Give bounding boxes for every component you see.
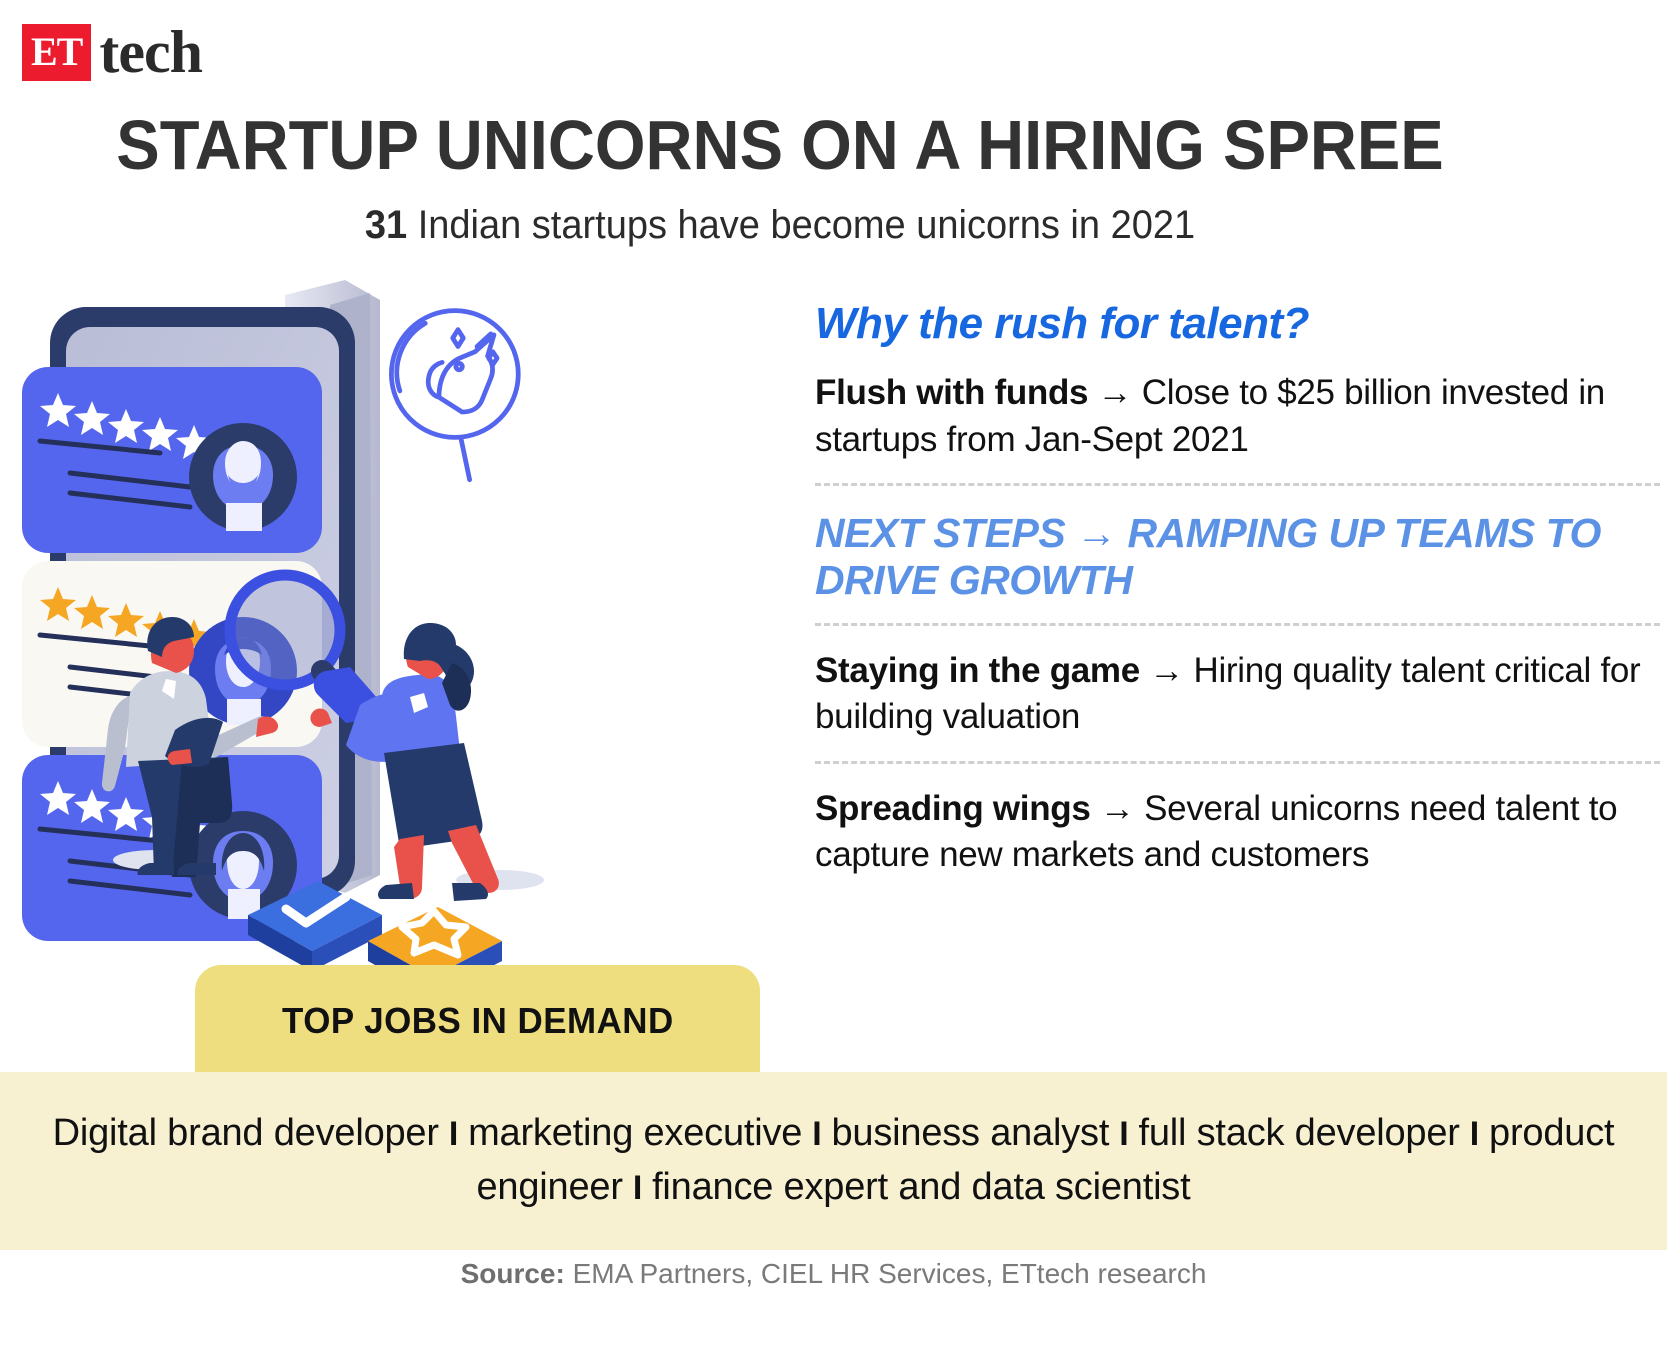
rush-for-talent-heading: Why the rush for talent? — [815, 300, 1660, 348]
top-jobs-tab-label: TOP JOBS IN DEMAND — [282, 1000, 674, 1042]
page-subtitle: 31 Indian startups have become unicorns … — [39, 203, 1521, 247]
ettech-logo[interactable]: ET tech — [22, 22, 202, 82]
phone-and-people-illustration — [0, 275, 820, 995]
job-item: business analyst — [831, 1112, 1109, 1154]
top-jobs-list: Digital brand developerImarketing execut… — [34, 1107, 1634, 1215]
divider-2 — [815, 623, 1660, 626]
job-item: finance expert and data scientist — [652, 1166, 1190, 1208]
fact-lead: Spreading wings — [815, 789, 1091, 828]
hero-illustration — [0, 275, 820, 995]
top-jobs-panel: Digital brand developerImarketing execut… — [0, 1072, 1667, 1250]
divider-3 — [815, 761, 1660, 764]
job-separator: I — [439, 1115, 468, 1153]
fact-lead: Flush with funds — [815, 373, 1088, 412]
job-item: full stack developer — [1138, 1112, 1459, 1154]
fact-arrow: → — [1140, 651, 1194, 690]
job-item: Digital brand developer — [53, 1112, 439, 1154]
page-title: STARTUP UNICORNS ON A HIRING SPREE — [55, 110, 1506, 181]
next-steps-heading: NEXT STEPS → RAMPING UP TEAMS TO DRIVE G… — [815, 510, 1660, 603]
fact-lead: Staying in the game — [815, 651, 1140, 690]
job-separator: I — [802, 1115, 831, 1153]
fact-item-funds: Flush with funds → Close to $25 billion … — [815, 370, 1660, 462]
divider-1 — [815, 483, 1660, 486]
et-logo-mark: ET — [22, 24, 91, 81]
source-label: Source: — [461, 1258, 565, 1289]
subtitle-count: 31 — [365, 203, 407, 247]
job-item: marketing executive — [468, 1112, 802, 1154]
source-line: Source: EMA Partners, CIEL HR Services, … — [0, 1258, 1667, 1290]
tech-wordmark: tech — [99, 22, 202, 82]
right-content-panel: Why the rush for talent? Flush with fund… — [815, 300, 1660, 878]
subtitle-text: Indian startups have become unicorns in … — [407, 203, 1195, 247]
fact-item-staying: Staying in the game → Hiring quality tal… — [815, 648, 1660, 740]
fact-arrow: → — [1091, 789, 1145, 828]
job-separator: I — [1109, 1115, 1138, 1153]
top-jobs-tab: TOP JOBS IN DEMAND — [195, 965, 760, 1077]
source-text: EMA Partners, CIEL HR Services, ETtech r… — [565, 1258, 1207, 1289]
profile-card-1 — [22, 367, 322, 553]
job-separator: I — [1460, 1115, 1489, 1153]
title-block: STARTUP UNICORNS ON A HIRING SPREE 31 In… — [0, 110, 1560, 247]
job-separator: I — [623, 1169, 652, 1207]
fact-arrow: → — [1088, 373, 1142, 412]
fact-item-spreading: Spreading wings → Several unicorns need … — [815, 786, 1660, 878]
